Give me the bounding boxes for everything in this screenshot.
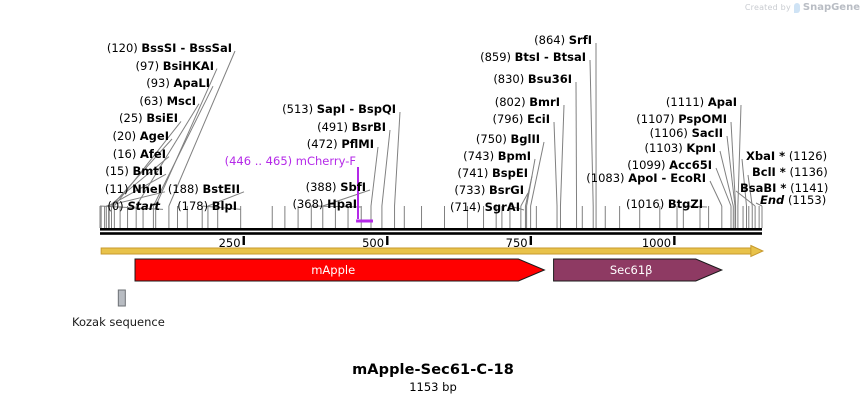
site-position: (15) bbox=[105, 164, 129, 178]
site-label[interactable]: (16) AfeI bbox=[113, 148, 166, 160]
site-position: (188) bbox=[168, 182, 199, 196]
site-position: (1016) bbox=[626, 197, 664, 211]
site-position: (1103) bbox=[644, 141, 682, 155]
site-position: (743) bbox=[463, 149, 494, 163]
ruler-tick-mark bbox=[530, 236, 532, 245]
site-label[interactable]: BclI * (1136) bbox=[752, 166, 828, 178]
site-label[interactable]: (120) BssSI - BssSaI bbox=[107, 42, 232, 54]
site-enzyme: BsiEI bbox=[146, 111, 178, 125]
site-label[interactable]: (743) BpmI bbox=[463, 150, 531, 162]
site-label[interactable]: (714) SgrAI bbox=[450, 201, 520, 213]
site-enzyme: BlpI bbox=[212, 199, 237, 213]
site-position: (1099) bbox=[627, 158, 665, 172]
site-label[interactable]: (1106) SacII bbox=[650, 127, 723, 139]
site-position: (120) bbox=[107, 41, 138, 55]
site-position: (1083) bbox=[586, 171, 624, 185]
site-label[interactable]: (1099) Acc65I bbox=[627, 159, 712, 171]
site-label[interactable]: (1016) BtgZI bbox=[626, 198, 703, 210]
leader-line bbox=[371, 147, 378, 206]
kozak-sequence-label: Kozak sequence bbox=[72, 315, 165, 329]
site-label[interactable]: (15) BmtI bbox=[105, 165, 163, 177]
site-position: (513) bbox=[282, 102, 313, 116]
site-enzyme: BmtI bbox=[132, 164, 163, 178]
site-position: (368) bbox=[293, 197, 324, 211]
site-label[interactable]: (63) MscI bbox=[139, 95, 196, 107]
site-enzyme: ApoI - EcoRI bbox=[628, 171, 706, 185]
feature-arrow-Sec61b bbox=[554, 259, 722, 281]
site-enzyme: SbfI bbox=[340, 180, 366, 194]
site-enzyme: BclI * bbox=[752, 165, 786, 179]
site-enzyme: SrfI bbox=[569, 33, 592, 47]
site-label[interactable]: (750) BglII bbox=[476, 133, 540, 145]
page-title: mApple-Sec61-C-18 bbox=[0, 362, 866, 378]
site-position: (830) bbox=[493, 72, 524, 86]
site-position: (97) bbox=[135, 59, 159, 73]
site-label[interactable]: (388) SbfI bbox=[306, 181, 366, 193]
site-enzyme: Start bbox=[127, 199, 160, 213]
site-position: (1126) bbox=[789, 149, 827, 163]
ruler-tick-label: 750 bbox=[506, 236, 528, 250]
site-position: (16) bbox=[113, 147, 137, 161]
site-enzyme: BssSI - BssSaI bbox=[141, 41, 232, 55]
site-enzyme: BstEII bbox=[202, 182, 240, 196]
site-enzyme: BpmI bbox=[498, 149, 531, 163]
site-enzyme: HpaI bbox=[327, 197, 357, 211]
site-enzyme: Bsu36I bbox=[528, 72, 572, 86]
site-label[interactable]: (1103) KpnI bbox=[644, 142, 716, 154]
site-enzyme: BsrGI bbox=[489, 183, 524, 197]
site-position: (864) bbox=[534, 33, 565, 47]
title-block: mApple-Sec61-C-18 1153 bp bbox=[0, 362, 866, 394]
site-label[interactable]: (802) BmrI bbox=[495, 96, 560, 108]
ruler-tick-mark bbox=[386, 236, 388, 245]
site-label[interactable]: (93) ApaLI bbox=[146, 77, 210, 89]
ruler-tick-mark bbox=[243, 236, 245, 245]
site-label[interactable]: XbaI * (1126) bbox=[746, 150, 827, 162]
ruler-tick-label: 250 bbox=[219, 236, 241, 250]
site-label[interactable]: End (1153) bbox=[760, 194, 826, 206]
site-label[interactable]: (733) BsrGI bbox=[454, 184, 524, 196]
site-position: (796) bbox=[493, 112, 524, 126]
plasmid-size: 1153 bp bbox=[0, 380, 866, 394]
site-enzyme: BmrI bbox=[529, 95, 560, 109]
site-enzyme: BglII bbox=[511, 132, 541, 146]
site-enzyme: PflMI bbox=[341, 137, 374, 151]
orf-arrowhead bbox=[751, 246, 763, 257]
site-enzyme: NheI bbox=[132, 182, 162, 196]
site-enzyme: End bbox=[760, 193, 784, 207]
backbone-line-lower bbox=[100, 232, 762, 235]
site-position: (802) bbox=[495, 95, 526, 109]
site-label[interactable]: (796) EciI bbox=[493, 113, 551, 125]
site-label[interactable]: (472) PflMI bbox=[307, 138, 374, 150]
primer-label[interactable]: (446 .. 465) mCherry-F bbox=[225, 155, 356, 167]
site-position: (25) bbox=[119, 111, 143, 125]
site-enzyme: ApaI bbox=[708, 95, 737, 109]
site-position: (1136) bbox=[789, 165, 827, 179]
site-position: (1111) bbox=[666, 95, 704, 109]
feature-arrows-group bbox=[101, 246, 763, 307]
ruler-tick-label: 1000 bbox=[642, 236, 671, 250]
site-label[interactable]: (178) BlpI bbox=[177, 200, 237, 212]
site-enzyme: AgeI bbox=[140, 129, 169, 143]
leader-line bbox=[576, 82, 577, 206]
site-enzyme: SgrAI bbox=[485, 200, 520, 214]
site-label[interactable]: (491) BsrBI bbox=[317, 121, 386, 133]
site-position: (0) bbox=[107, 199, 123, 213]
site-enzyme: BtgZI bbox=[668, 197, 703, 211]
site-enzyme: SapI - BspQI bbox=[317, 102, 396, 116]
primer-marker-group bbox=[356, 167, 373, 221]
feature-arrow-mApple bbox=[135, 259, 544, 281]
site-enzyme: EciI bbox=[527, 112, 550, 126]
site-position: (20) bbox=[113, 129, 137, 143]
site-position: (388) bbox=[306, 180, 337, 194]
site-label[interactable]: (25) BsiEI bbox=[119, 112, 178, 124]
kozak-sequence-marker bbox=[118, 290, 125, 306]
site-position: (750) bbox=[476, 132, 507, 146]
site-position: (733) bbox=[454, 183, 485, 197]
site-label[interactable]: (513) SapI - BspQI bbox=[282, 103, 396, 115]
leader-line bbox=[710, 181, 722, 206]
site-enzyme: Acc65I bbox=[669, 158, 712, 172]
site-label[interactable]: (0) Start bbox=[107, 200, 160, 212]
site-position: (714) bbox=[450, 200, 481, 214]
site-enzyme: MscI bbox=[167, 94, 196, 108]
site-label[interactable]: (1083) ApoI - EcoRI bbox=[586, 172, 706, 184]
site-enzyme: XbaI * bbox=[746, 149, 785, 163]
leader-line bbox=[720, 151, 733, 206]
site-enzyme: BsrBI bbox=[352, 120, 386, 134]
site-position: (859) bbox=[480, 50, 511, 64]
leader-line bbox=[382, 130, 390, 206]
site-position: (491) bbox=[317, 120, 348, 134]
site-position: (178) bbox=[177, 199, 208, 213]
site-position: (1107) bbox=[636, 112, 674, 126]
site-label[interactable]: (11) NheI bbox=[105, 183, 162, 195]
site-label[interactable]: (1111) ApaI bbox=[666, 96, 737, 108]
site-enzyme: AfeI bbox=[140, 147, 166, 161]
site-position: (741) bbox=[457, 166, 488, 180]
site-position: (63) bbox=[139, 94, 163, 108]
site-label[interactable]: (188) BstEII bbox=[168, 183, 240, 195]
site-position: (93) bbox=[146, 76, 170, 90]
site-enzyme: BtsI - BtsaI bbox=[515, 50, 586, 64]
site-label[interactable]: (741) BspEI bbox=[457, 167, 528, 179]
site-position: (1106) bbox=[650, 126, 688, 140]
site-label[interactable]: (864) SrfI bbox=[534, 34, 592, 46]
leader-line bbox=[554, 122, 557, 206]
site-position: (472) bbox=[307, 137, 338, 151]
site-position: (11) bbox=[105, 182, 129, 196]
site-enzyme: ApaLI bbox=[174, 76, 211, 90]
leader-line bbox=[560, 105, 564, 206]
site-label[interactable]: (20) AgeI bbox=[113, 130, 169, 142]
ruler-tick-mark bbox=[673, 236, 675, 245]
site-enzyme: PspOMI bbox=[678, 112, 727, 126]
snapgene-linear-map: Created by SnapGene (120) BssSI - BssSaI… bbox=[0, 0, 866, 403]
ruler-tick-label: 500 bbox=[362, 236, 384, 250]
site-label[interactable]: (859) BtsI - BtsaI bbox=[480, 51, 586, 63]
site-position: (1153) bbox=[788, 193, 826, 207]
site-enzyme: BspEI bbox=[492, 166, 528, 180]
site-label[interactable]: (1107) PspOMI bbox=[636, 113, 727, 125]
site-enzyme: KpnI bbox=[686, 141, 716, 155]
backbone-line-upper bbox=[100, 228, 762, 231]
site-label[interactable]: (830) Bsu36I bbox=[493, 73, 572, 85]
leader-line bbox=[395, 112, 400, 206]
site-enzyme: BsiHKAI bbox=[163, 59, 214, 73]
site-label[interactable]: (368) HpaI bbox=[293, 198, 358, 210]
site-enzyme: SacII bbox=[692, 126, 723, 140]
leader-line bbox=[525, 176, 532, 206]
site-label[interactable]: (97) BsiHKAI bbox=[135, 60, 214, 72]
